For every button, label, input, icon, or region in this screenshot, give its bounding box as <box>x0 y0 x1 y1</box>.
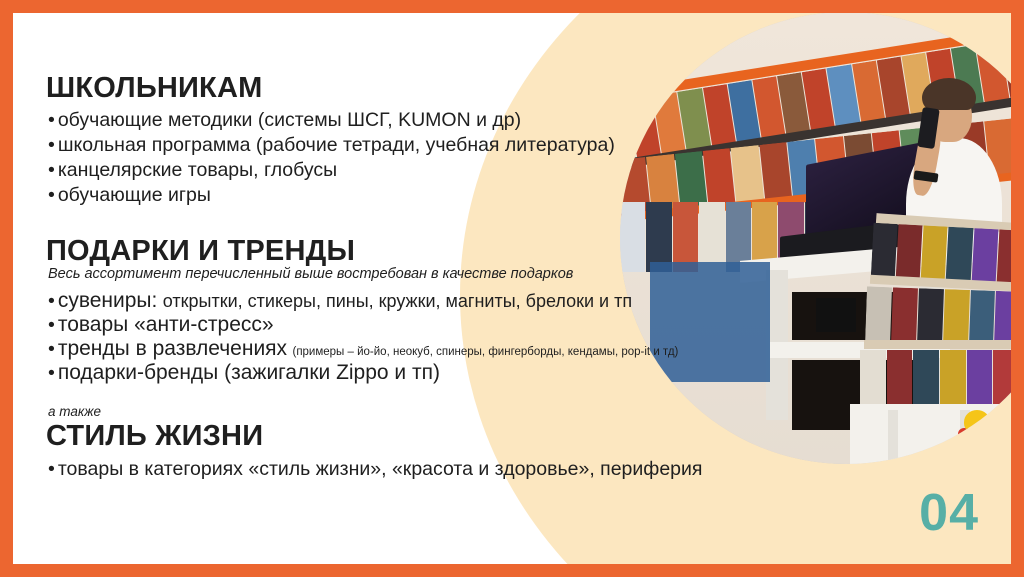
card-deck-row-2 <box>865 286 1024 347</box>
bullet-rest-text: открытки, стикеры, пины, кружки, магниты… <box>163 291 632 311</box>
bullet-schoolchildren-2: •школьная программа (рабочие тетради, уч… <box>48 133 615 158</box>
bullet-text: школьная программа (рабочие тетради, уче… <box>58 134 615 156</box>
bullet-glyph-icon: • <box>48 290 55 312</box>
slide-content: ШКОЛЬНИКАМ •обучающие методики (системы … <box>46 0 746 577</box>
bullet-glyph-icon: • <box>48 134 55 156</box>
frame-border-right <box>1011 0 1024 577</box>
bullet-glyph-icon: • <box>48 458 55 480</box>
bullet-text: канцелярские товары, глобусы <box>58 159 337 181</box>
bullet-gifts-4: •подарки-бренды (зажигалки Zippo и тп) <box>48 360 440 386</box>
bullet-examples-note: (примеры – йо-йо, неокуб, спинеры, финге… <box>292 346 678 358</box>
toy-car <box>958 428 1018 454</box>
bullet-glyph-icon: • <box>48 314 55 336</box>
bullet-gifts-2: •товары «анти-стресс» <box>48 312 274 338</box>
bullet-schoolchildren-3: •канцелярские товары, глобусы <box>48 158 337 183</box>
bullet-glyph-icon: • <box>48 109 55 131</box>
bullet-text: обучающие игры <box>58 184 211 206</box>
bullet-glyph-icon: • <box>48 184 55 206</box>
frame-border-top <box>0 0 1024 13</box>
section-note-gifts: Весь ассортимент перечисленный выше вост… <box>48 266 573 282</box>
card-deck-row-3 <box>860 350 1024 404</box>
bullet-lead-text: товары «анти-стресс» <box>58 313 274 336</box>
bullet-gifts-1: •сувениры: открытки, стикеры, пины, круж… <box>48 288 632 314</box>
section-title-schoolchildren: ШКОЛЬНИКАМ <box>46 72 262 105</box>
bullet-lifestyle-1: •товары в категориях «стиль жизни», «кра… <box>48 457 702 482</box>
bullet-glyph-icon: • <box>48 159 55 181</box>
bullet-glyph-icon: • <box>48 362 55 384</box>
bullet-text: товары в категориях «стиль жизни», «крас… <box>58 458 703 480</box>
slide: ШКОЛЬНИКАМ •обучающие методики (системы … <box>0 0 1024 577</box>
card-rack-edge-3 <box>864 340 1024 349</box>
page-number: 04 <box>919 487 979 539</box>
connector-text: а также <box>48 404 101 419</box>
bullet-lead-text: тренды в развлечениях <box>58 337 287 360</box>
bullet-text: обучающие методики (системы ШСГ, KUMON и… <box>58 109 521 131</box>
frame-border-left <box>0 0 13 577</box>
section-title-lifestyle: СТИЛЬ ЖИЗНИ <box>46 420 263 453</box>
bullet-lead-text: подарки-бренды (зажигалки Zippo и тп) <box>58 361 440 384</box>
speaker-box <box>816 298 856 332</box>
section-title-gifts-and-trends: ПОДАРКИ И ТРЕНДЫ <box>46 235 355 268</box>
person-hair <box>922 78 976 110</box>
frame-border-bottom <box>0 564 1024 577</box>
bullet-glyph-icon: • <box>48 338 55 360</box>
bullet-schoolchildren-4: •обучающие игры <box>48 183 211 208</box>
shelf-divider-1 <box>888 410 898 464</box>
bullet-lead-text: сувениры: <box>58 289 158 312</box>
rubber-duck-toy <box>964 410 990 434</box>
bullet-schoolchildren-1: •обучающие методики (системы ШСГ, KUMON … <box>48 108 521 133</box>
